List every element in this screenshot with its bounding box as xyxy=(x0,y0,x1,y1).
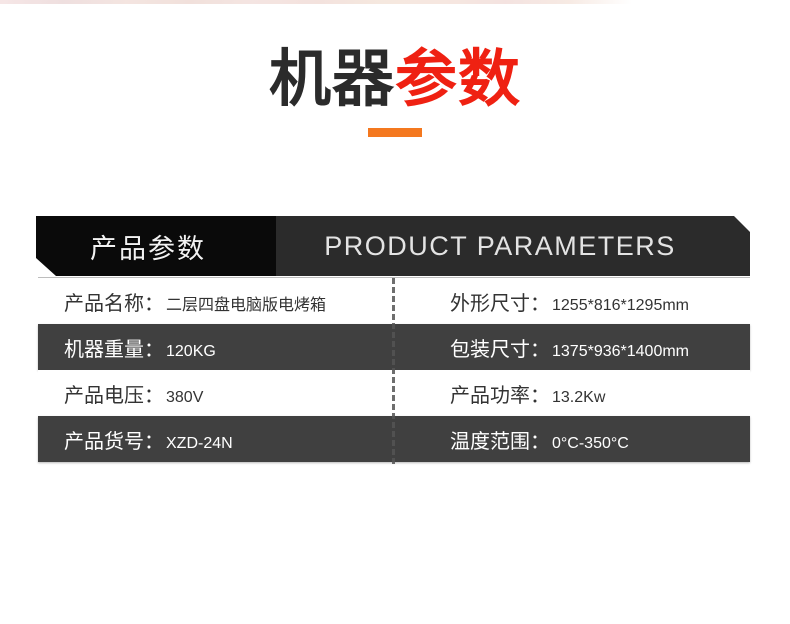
spec-cell-left: 机器重量： 120KG xyxy=(38,333,390,362)
page-title: 机器参数 xyxy=(0,48,790,137)
spec-value: 1255*816*1295mm xyxy=(552,297,689,315)
spec-value: 0°C-350°C xyxy=(552,435,629,453)
title-underline-rule xyxy=(368,128,422,137)
spec-value: 380V xyxy=(166,389,203,407)
top-decorative-strip xyxy=(0,0,790,4)
spec-cell-right: 产品功率： 13.2Kw xyxy=(390,379,750,408)
spec-label: 包装尺寸： xyxy=(450,333,550,362)
spec-label: 温度范围： xyxy=(450,425,550,454)
table-row: 产品名称： 二层四盘电脑版电烤箱 外形尺寸： 1255*816*1295mm xyxy=(38,278,750,324)
spec-header-en-title: PRODUCT PARAMETERS xyxy=(324,231,702,262)
table-row: 机器重量： 120KG 包装尺寸： 1375*936*1400mm xyxy=(38,324,750,370)
spec-value: 1375*936*1400mm xyxy=(552,343,689,361)
table-row: 产品电压： 380V 产品功率： 13.2Kw xyxy=(38,370,750,416)
spec-value: 120KG xyxy=(166,343,216,361)
spec-value: 二层四盘电脑版电烤箱 xyxy=(166,291,326,315)
spec-cell-right: 温度范围： 0°C-350°C xyxy=(390,425,750,454)
spec-value: XZD-24N xyxy=(166,435,233,453)
spec-cell-right: 外形尺寸： 1255*816*1295mm xyxy=(390,287,750,316)
title-dark-part: 机器 xyxy=(269,42,395,115)
spec-label: 产品功率： xyxy=(450,379,550,408)
spec-cell-right: 包装尺寸： 1375*936*1400mm xyxy=(390,333,750,362)
spec-table-header: 产品参数 PRODUCT PARAMETERS xyxy=(36,216,750,276)
spec-value: 13.2Kw xyxy=(552,389,605,407)
spec-label: 外形尺寸： xyxy=(450,287,550,316)
spec-label: 产品电压： xyxy=(64,379,164,408)
spec-label: 产品货号： xyxy=(64,425,164,454)
spec-header-en-section: PRODUCT PARAMETERS xyxy=(276,216,750,276)
table-row: 产品货号： XZD-24N 温度范围： 0°C-350°C xyxy=(38,416,750,462)
spec-header-cn-section: 产品参数 xyxy=(36,216,276,276)
spec-cell-left: 产品货号： XZD-24N xyxy=(38,425,390,454)
title-accent-part: 参数 xyxy=(395,42,521,115)
spec-label: 机器重量： xyxy=(64,333,164,362)
spec-cell-left: 产品名称： 二层四盘电脑版电烤箱 xyxy=(38,287,390,316)
spec-header-cn-title: 产品参数 xyxy=(36,227,206,266)
spec-rows-container: 产品名称： 二层四盘电脑版电烤箱 外形尺寸： 1255*816*1295mm 机… xyxy=(36,278,750,462)
spec-label: 产品名称： xyxy=(64,287,164,316)
spec-cell-left: 产品电压： 380V xyxy=(38,379,390,408)
product-parameters-card: 产品参数 PRODUCT PARAMETERS 产品名称： 二层四盘电脑版电烤箱… xyxy=(36,216,750,462)
title-text: 机器参数 xyxy=(0,48,790,110)
